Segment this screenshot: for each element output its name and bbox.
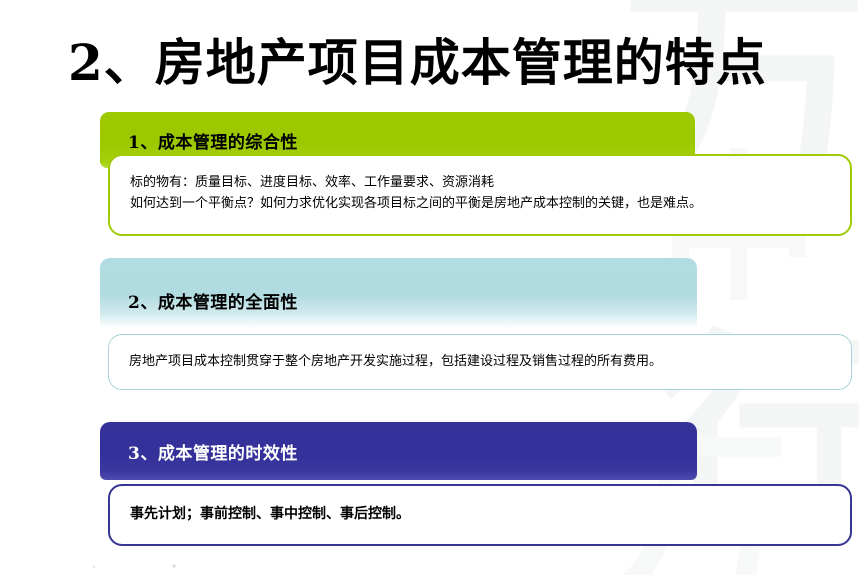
section-3-header-bar: 3、成本管理的时效性 [100,422,697,480]
section-3-body: 事先计划；事前控制、事中控制、事后控制。 [108,484,852,546]
section-3-body-line-1: 事先计划；事前控制、事中控制、事后控制。 [130,503,410,526]
section-1-body-line-1: 标的物有：质量目标、进度目标、效率、工作量要求、资源消耗 [130,172,832,193]
section-2-body-line-1: 房地产项目成本控制贯穿于整个房地产开发实施过程，包括建设过程及销售过程的所有费用… [129,351,662,372]
section-1-header-label: 1、成本管理的综合性 [100,128,298,153]
section-comprehensiveness: 1、成本管理的综合性 标的物有：质量目标、进度目标、效率、工作量要求、资源消耗 … [100,112,852,242]
section-3-header-label: 3、成本管理的时效性 [100,439,298,464]
section-2-header-label: 2、成本管理的全面性 [100,274,298,313]
section-timeliness: 3、成本管理的时效性 事先计划；事前控制、事中控制、事后控制。 [100,422,852,552]
section-1-body-line-2: 如何达到一个平衡点？如何力求优化实现各项目标之间的平衡是房地产成本控制的关键，也… [130,193,832,214]
section-comprehensive-coverage: 2、成本管理的全面性 房地产项目成本控制贯穿于整个房地产开发实施过程，包括建设过… [100,258,852,388]
slide-title: 2、房地产项目成本管理的特点 [68,34,767,92]
section-2-header-bar: 2、成本管理的全面性 [100,258,697,328]
slide-canvas: 万 中 行 万 2、房地产项目成本管理的特点 1、成本管理的综合性 标的物有：质… [0,0,859,575]
section-1-body: 标的物有：质量目标、进度目标、效率、工作量要求、资源消耗 如何达到一个平衡点？如… [108,154,852,236]
section-2-body: 房地产项目成本控制贯穿于整个房地产开发实施过程，包括建设过程及销售过程的所有费用… [108,334,852,390]
bottom-left-artifact [88,561,200,571]
